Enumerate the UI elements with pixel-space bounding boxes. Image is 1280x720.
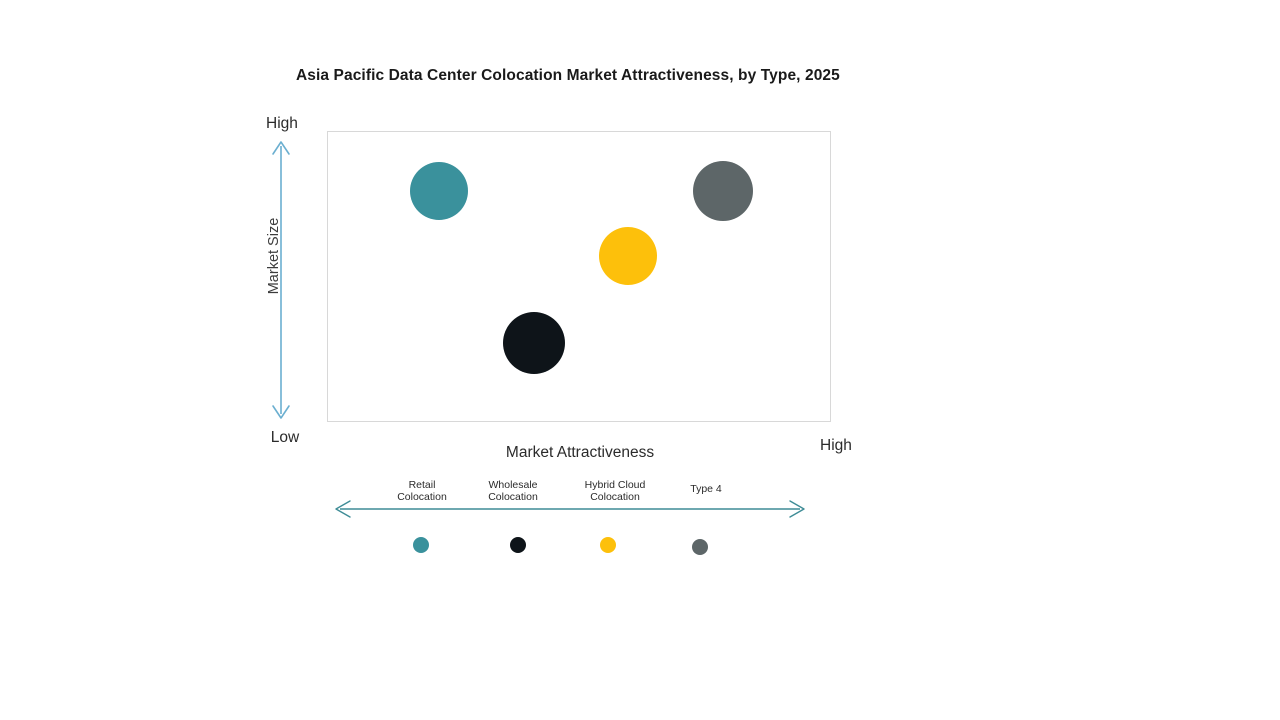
y-axis-tick-low: Low	[250, 429, 320, 447]
legend-dot-hybrid-cloud-colocation[interactable]	[600, 537, 616, 553]
legend-label-hybrid-cloud-colocation: Hybrid Cloud Colocation	[565, 479, 665, 503]
legend-label-retail-colocation: Retail Colocation	[372, 479, 472, 503]
legend-dot-type-4[interactable]	[692, 539, 708, 555]
legend-dot-retail-colocation[interactable]	[413, 537, 429, 553]
y-axis-label: Market Size	[266, 196, 282, 316]
x-axis-tick-high: High	[820, 437, 890, 455]
legend-dot-wholesale-colocation[interactable]	[510, 537, 526, 553]
bubble-type-4[interactable]	[693, 161, 753, 221]
legend-label-wholesale-colocation: Wholesale Colocation	[463, 479, 563, 503]
plot-area	[327, 131, 831, 422]
bubble-retail-colocation[interactable]	[410, 162, 468, 220]
y-axis-tick-high: High	[247, 115, 317, 133]
x-axis-label: Market Attractiveness	[430, 444, 730, 462]
bubble-wholesale-colocation[interactable]	[503, 312, 565, 374]
bubble-hybrid-cloud-colocation[interactable]	[599, 227, 657, 285]
page-title: Asia Pacific Data Center Colocation Mark…	[296, 67, 996, 85]
chart-canvas: Asia Pacific Data Center Colocation Mark…	[0, 0, 1280, 720]
legend-label-type-4: Type 4	[656, 483, 756, 495]
